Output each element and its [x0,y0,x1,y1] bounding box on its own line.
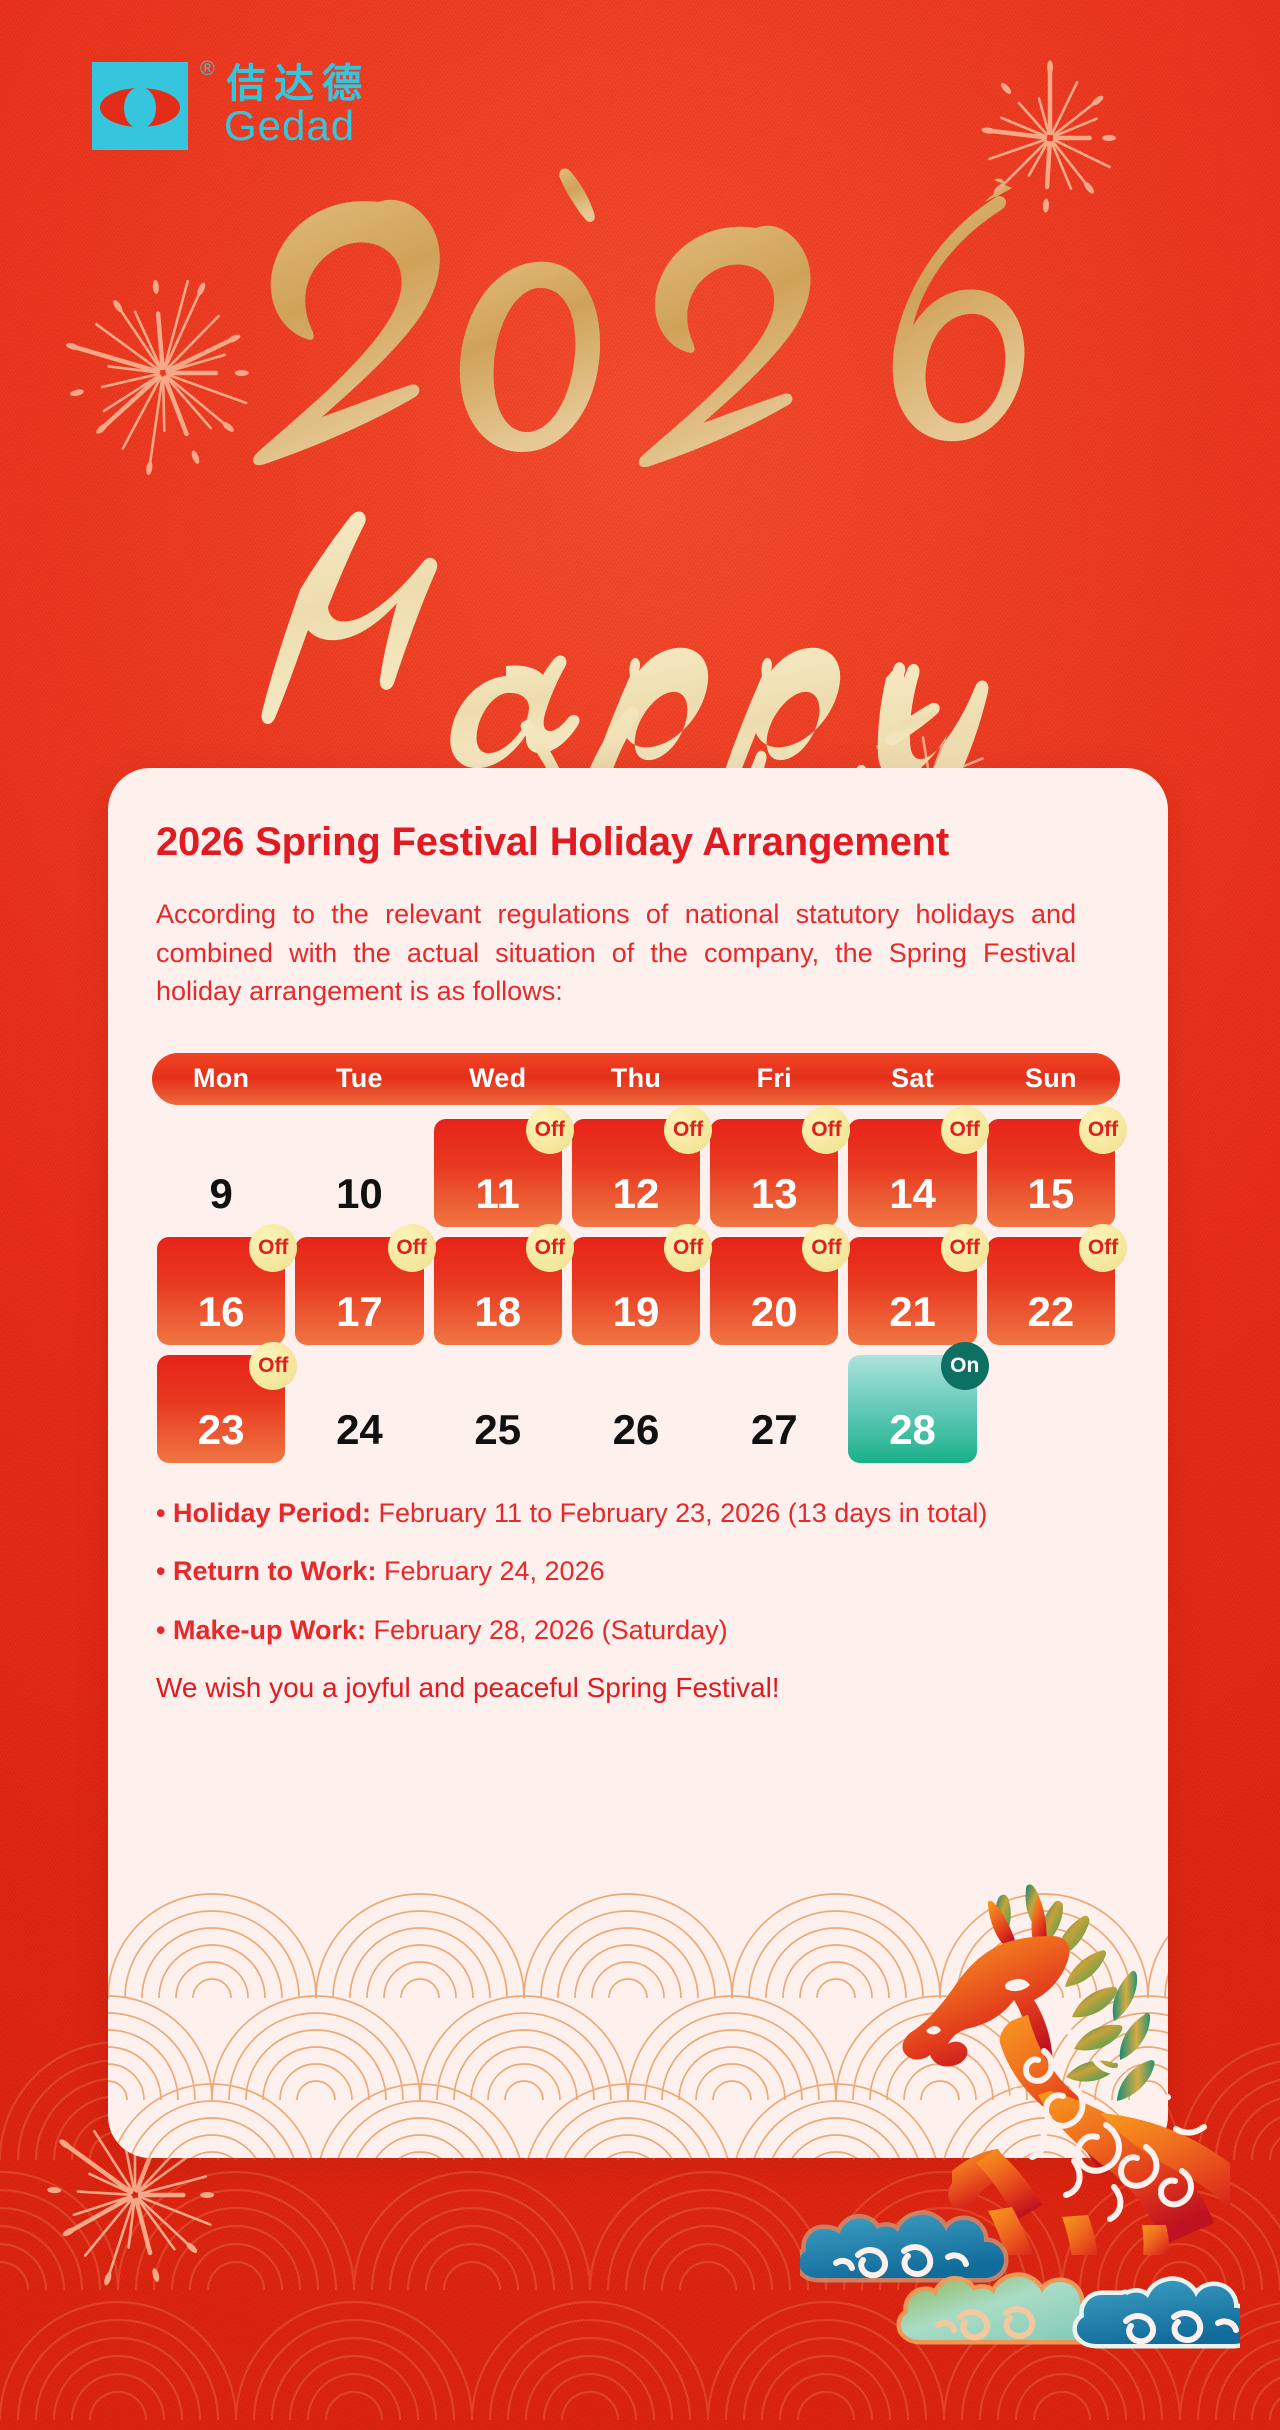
calendar-day-18[interactable]: Off18 [429,1237,567,1345]
day-number: 24 [336,1409,383,1451]
registered-trademark-symbol: ® [200,58,215,81]
brand-name-chinese: 佶达德 [226,62,370,106]
calendar-week-row: Off16Off17Off18Off19Off20Off21Off22 [152,1237,1120,1345]
calendar-week-row: 910Off11Off12Off13Off14Off15 [152,1119,1120,1227]
eye-logo-icon [92,62,188,150]
off-badge: Off [388,1224,436,1272]
calendar-day-20[interactable]: Off20 [705,1237,843,1345]
day-number: 17 [336,1291,383,1333]
day-number: 12 [613,1173,660,1215]
calendar-day-26[interactable]: 26 [567,1355,705,1463]
calendar-day-24[interactable]: 24 [290,1355,428,1463]
calendar-day-25[interactable]: 25 [429,1355,567,1463]
calendar-day-19[interactable]: Off19 [567,1237,705,1345]
day-number: 16 [198,1291,245,1333]
note-value: February 11 to February 23, 2026 (13 day… [371,1498,987,1528]
holiday-note: • Make-up Work: February 28, 2026 (Satur… [156,1614,1101,1646]
off-badge: Off [526,1106,574,1154]
note-value: February 28, 2026 (Saturday) [366,1615,728,1645]
brand-name-english: Gedad [224,104,370,148]
day-number: 21 [889,1291,936,1333]
day-number: 28 [889,1409,936,1451]
off-badge: Off [249,1224,297,1272]
holiday-note: • Holiday Period: February 11 to Februar… [156,1497,1101,1529]
note-value: February 24, 2026 [376,1556,604,1586]
off-badge: Off [802,1224,850,1272]
day-number: 19 [613,1291,660,1333]
note-label: • Make-up Work: [156,1615,366,1645]
note-label: • Return to Work: [156,1556,376,1586]
day-number: 11 [476,1173,520,1215]
calendar-header-row: MonTueWedThuFriSatSun [152,1053,1120,1105]
on-badge: On [941,1342,989,1390]
day-number: 20 [751,1291,798,1333]
calendar-dow-tue: Tue [290,1063,428,1094]
card-wave-pattern [108,1828,1168,2158]
day-number: 26 [613,1409,660,1451]
day-number: 10 [336,1173,383,1215]
calendar-day-21[interactable]: Off21 [843,1237,981,1345]
calendar-week-row: Off2324252627On28 [152,1355,1120,1463]
calendar-day-17[interactable]: Off17 [290,1237,428,1345]
calendar-day-14[interactable]: Off14 [843,1119,981,1227]
holiday-notes-list: • Holiday Period: February 11 to Februar… [156,1497,1101,1646]
page-title: 2026 Spring Festival Holiday Arrangement [156,820,1120,865]
poster-background: ® 佶达德 Gedad [0,0,1280,2430]
calendar-day-11[interactable]: Off11 [429,1119,567,1227]
calendar-dow-sun: Sun [982,1063,1120,1094]
day-number: 18 [474,1291,521,1333]
holiday-note: • Return to Work: February 24, 2026 [156,1555,1101,1587]
announcement-card: 2026 Spring Festival Holiday Arrangement… [108,768,1168,2158]
off-badge: Off [941,1106,989,1154]
holiday-calendar: MonTueWedThuFriSatSun 910Off11Off12Off13… [152,1053,1120,1463]
calendar-day-10[interactable]: 10 [290,1119,428,1227]
calendar-day-15[interactable]: Off15 [982,1119,1120,1227]
off-badge: Off [1079,1224,1127,1272]
calendar-dow-mon: Mon [152,1063,290,1094]
calendar-day-28[interactable]: On28 [843,1355,981,1463]
calendar-day-23[interactable]: Off23 [152,1355,290,1463]
calendar-day-22[interactable]: Off22 [982,1237,1120,1345]
brand-logo: ® 佶达德 Gedad [92,62,370,150]
calendar-body: 910Off11Off12Off13Off14Off15Off16Off17Of… [152,1119,1120,1463]
calendar-day-16[interactable]: Off16 [152,1237,290,1345]
calendar-day-13[interactable]: Off13 [705,1119,843,1227]
calendar-day-12[interactable]: Off12 [567,1119,705,1227]
day-number: 27 [751,1409,798,1451]
off-badge: Off [802,1106,850,1154]
calendar-dow-wed: Wed [429,1063,567,1094]
off-badge: Off [664,1106,712,1154]
calendar-dow-fri: Fri [705,1063,843,1094]
day-number: 25 [474,1409,521,1451]
off-badge: Off [664,1224,712,1272]
calendar-dow-thu: Thu [567,1063,705,1094]
day-number: 13 [751,1173,798,1215]
off-badge: Off [249,1342,297,1390]
day-number: 14 [889,1173,936,1215]
off-badge: Off [941,1224,989,1272]
day-number: 9 [209,1173,232,1215]
intro-paragraph: According to the relevant regulations of… [156,895,1076,1011]
day-number: 22 [1027,1291,1074,1333]
day-number: 23 [198,1409,245,1451]
calendar-cell-empty [982,1355,1120,1463]
day-number: 15 [1027,1173,1074,1215]
calendar-day-9[interactable]: 9 [152,1119,290,1227]
closing-wish: We wish you a joyful and peaceful Spring… [156,1672,1120,1704]
calendar-dow-sat: Sat [843,1063,981,1094]
calendar-day-27[interactable]: 27 [705,1355,843,1463]
off-badge: Off [1079,1106,1127,1154]
off-badge: Off [526,1224,574,1272]
note-label: • Holiday Period: [156,1498,371,1528]
